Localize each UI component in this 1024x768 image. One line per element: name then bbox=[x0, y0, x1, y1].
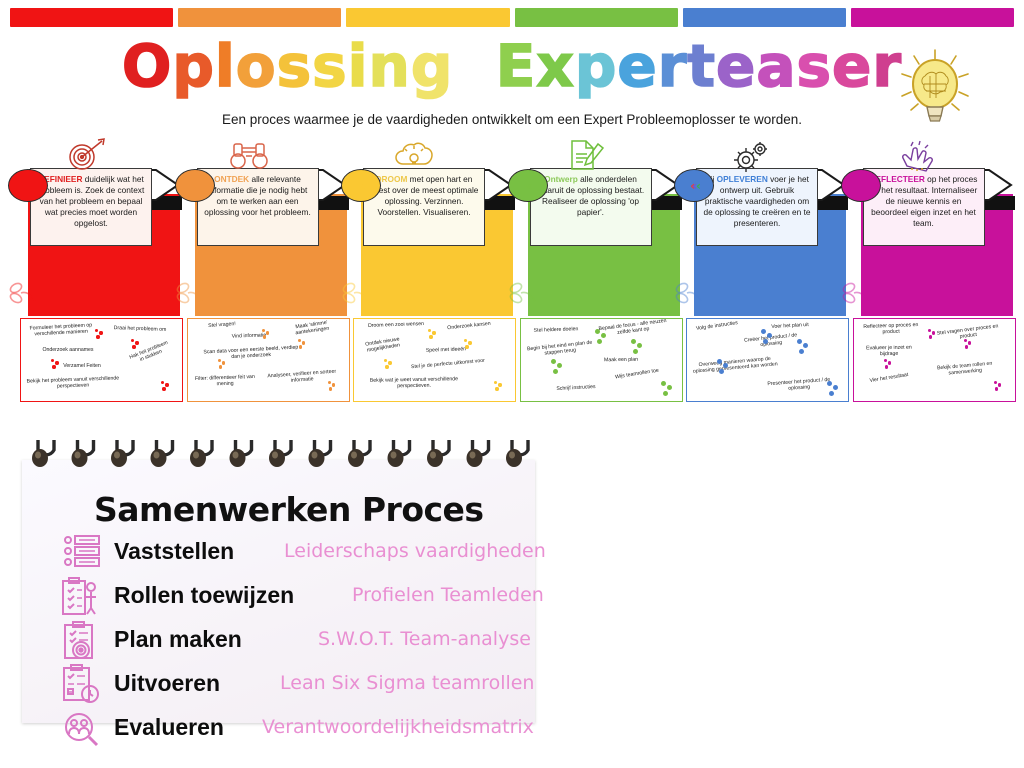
title-letter: o bbox=[236, 32, 277, 100]
process-panel-opleveren[interactable]: Bij OPLEVEREN voer je het ontwerp uit. G… bbox=[680, 138, 840, 406]
subbox-item: Begin bij het eind en plan de stappen te… bbox=[520, 339, 599, 359]
panel-description-ontdekken: ONTDEK alle relevante informatie die je … bbox=[197, 168, 319, 246]
panel-subbox-definieren: Formuleer het probleem op verschillende … bbox=[20, 318, 183, 402]
title-letter: p bbox=[575, 32, 618, 100]
subbox-item: Stel heldere doelen bbox=[522, 326, 588, 335]
panel-subbox-ontdekken: Stel vragen!Vind informatieMaak 'slimme'… bbox=[187, 318, 350, 402]
subbox-item: Stel vragen over proces en product bbox=[935, 323, 1000, 343]
panel-badge-opleveren[interactable]: ‹‹‹‹ bbox=[674, 169, 714, 202]
panel-badge-dromen[interactable]: ‹‹ bbox=[341, 169, 381, 202]
notepad-row-label: Evalueren bbox=[114, 714, 224, 741]
subbox-item: Draai het probleem om bbox=[109, 325, 171, 333]
badge-chevrons: ‹‹‹‹ bbox=[690, 180, 698, 192]
subbox-item: Vind informatie bbox=[217, 332, 279, 340]
string-decoration bbox=[341, 276, 369, 316]
title-letter bbox=[453, 32, 495, 100]
color-strip-segment-5 bbox=[683, 8, 846, 27]
title-letter: s bbox=[797, 32, 833, 100]
title-letter: e bbox=[832, 32, 872, 100]
color-strip-segment-6 bbox=[851, 8, 1014, 27]
notepad-row-value: Profielen Teamleden bbox=[352, 584, 544, 606]
notepad-row-label: Vaststellen bbox=[114, 538, 234, 565]
panel-subbox-opleveren: Volg de instructiesVoer het plan uitCreë… bbox=[686, 318, 849, 402]
process-panel-ontwerpen[interactable]: Ontwerp alle onderdelen waaruit de oplos… bbox=[514, 138, 674, 406]
string-decoration bbox=[508, 276, 536, 316]
subbox-item: Filter: differentieer feit van mening bbox=[189, 374, 259, 389]
people-search-icon bbox=[60, 708, 102, 750]
title-letter: r bbox=[658, 32, 688, 100]
subbox-item: Maak een plan bbox=[590, 356, 650, 363]
subbox-item: Schrijf instructies bbox=[540, 383, 610, 393]
subbox-item: Vier het resultaat bbox=[859, 371, 917, 386]
color-strip-segment-3 bbox=[346, 8, 509, 27]
badge-chevrons: ‹ bbox=[194, 180, 196, 192]
notepad-row-value: Verantwoordelijkheidsmatrix bbox=[262, 716, 534, 738]
process-panel-ontdekken[interactable]: ONTDEK alle relevante informatie die je … bbox=[181, 138, 341, 406]
page-subtitle: Een proces waarmee je de vaardigheden on… bbox=[0, 112, 1024, 127]
color-strip bbox=[10, 8, 1014, 27]
title-letter: p bbox=[172, 32, 215, 100]
subbox-item: Voer het plan uit bbox=[759, 321, 821, 330]
title-letter: e bbox=[617, 32, 657, 100]
process-panel-dromen[interactable]: DROOM met open hart en geest over de mee… bbox=[347, 138, 507, 406]
subbox-item: Evalueer je inzet en bijdrage bbox=[857, 344, 919, 357]
string-decoration bbox=[674, 276, 702, 316]
title-letter: g bbox=[411, 32, 454, 100]
subbox-item: Maak 'slimme' aantekeningen bbox=[283, 318, 340, 338]
badge-chevrons: ‹‹ bbox=[526, 180, 530, 192]
notepad-row-1[interactable]: VaststellenLeiderschaps vaardigheden bbox=[22, 530, 535, 576]
panel-subbox-ontwerpen: Stel heldere doelenBepaal de focus - all… bbox=[520, 318, 683, 402]
clapping-hands-icon bbox=[887, 138, 951, 172]
title-letter: s bbox=[312, 32, 348, 100]
subbox-item: Wijs teamrollen toe bbox=[608, 367, 664, 382]
notepad-row-label: Rollen toewijzen bbox=[114, 582, 294, 609]
title-letter: t bbox=[687, 32, 716, 100]
process-panel-reflecteren[interactable]: REFLECTEER op het proces en het resultaa… bbox=[847, 138, 1007, 406]
notepad-row-2[interactable]: Rollen toewijzenProfielen Teamleden bbox=[22, 574, 535, 620]
process-panel-definieren[interactable]: DEFINIEER duidelijk wat het probleem is.… bbox=[14, 138, 174, 406]
subbox-item: Formuleer het probleem op verschillende … bbox=[23, 322, 100, 338]
title-letter: e bbox=[716, 32, 756, 100]
checklist-icon bbox=[60, 532, 102, 574]
subbox-item: Stel je de perfecte uitkomst voor bbox=[396, 356, 500, 371]
title-letter: n bbox=[369, 32, 411, 100]
color-strip-segment-2 bbox=[178, 8, 341, 27]
title-letter: O bbox=[122, 32, 172, 100]
color-strip-segment-4 bbox=[515, 8, 678, 27]
title-letter: s bbox=[277, 32, 313, 100]
process-panels: DEFINIEER duidelijk wat het probleem is.… bbox=[14, 138, 1010, 406]
document-pen-icon bbox=[554, 138, 618, 172]
notepad-row-3[interactable]: Plan makenS.W.O.T. Team-analyse bbox=[22, 618, 535, 664]
subbox-item: Onderzoek aannames bbox=[29, 347, 107, 353]
title-letter: x bbox=[536, 32, 574, 100]
color-strip-segment-1 bbox=[10, 8, 173, 27]
lightbulb-brain-icon bbox=[880, 44, 990, 130]
notepad-row-value: S.W.O.T. Team-analyse bbox=[318, 628, 531, 650]
cloud-idea-icon bbox=[387, 138, 451, 172]
title-letter: E bbox=[496, 32, 537, 100]
subbox-item: Ontdek nieuwe mogelijkheden bbox=[353, 335, 412, 356]
subbox-item: Presenteer het product / de oplossing bbox=[763, 377, 836, 394]
title-letter: l bbox=[215, 32, 236, 100]
notepad-row-value: Lean Six Sigma teamrollen bbox=[280, 672, 534, 694]
panel-subbox-reflecteren: Reflecteer op proces en productStel vrag… bbox=[853, 318, 1016, 402]
panel-subbox-dromen: Droom een zooi wensenOnderzoek kansenOnt… bbox=[353, 318, 516, 402]
title-letter: a bbox=[756, 32, 796, 100]
subbox-item: Droom een zooi wensen bbox=[358, 321, 434, 330]
clipboard-target-icon bbox=[60, 620, 102, 662]
notepad-row-4[interactable]: UitvoerenLean Six Sigma teamrollen bbox=[22, 662, 535, 708]
panel-badge-ontwerpen[interactable]: ‹‹ bbox=[508, 169, 548, 202]
panel-badge-ontdekken[interactable]: ‹ bbox=[175, 169, 215, 202]
title-block: Oplossing Experteaser bbox=[0, 36, 1024, 96]
subbox-item: Onderzoek kansen bbox=[436, 320, 502, 333]
badge-chevrons: ‹‹ bbox=[359, 180, 363, 192]
string-decoration bbox=[8, 276, 36, 316]
panel-description-opleveren: Bij OPLEVEREN voer je het ontwerp uit. G… bbox=[696, 168, 818, 246]
notepad-row-value: Leiderschaps vaardigheden bbox=[284, 540, 546, 562]
panel-description-definieren: DEFINIEER duidelijk wat het probleem is.… bbox=[30, 168, 152, 246]
subbox-item: Overweeg manieren waarop de oplossing ge… bbox=[689, 355, 782, 375]
notepad-title: Samenwerken Proces bbox=[94, 490, 484, 529]
target-dart-icon bbox=[54, 138, 118, 172]
subbox-item: Hak het probleem in stukken bbox=[126, 339, 173, 368]
subbox-item: Bekijk het probleem vanuit verschillende… bbox=[25, 375, 121, 391]
poster-root: Oplossing Experteaser Een proces waarmee… bbox=[0, 0, 1024, 768]
panel-description-ontwerpen: Ontwerp alle onderdelen waaruit de oplos… bbox=[530, 168, 652, 246]
title-letter: i bbox=[348, 32, 369, 100]
subbox-item: Bekijk de team rollen en samenwerking bbox=[929, 360, 1000, 378]
page-title: Oplossing Experteaser bbox=[0, 36, 1024, 96]
subbox-item: Bekijk wat je weet vanuit verschillende … bbox=[364, 376, 464, 390]
subbox-item: Scan data voor een eerste beeld, verdiep… bbox=[201, 344, 300, 362]
gears-icon bbox=[720, 138, 784, 172]
binoculars-icon bbox=[221, 138, 285, 172]
panel-description-reflecteren: REFLECTEER op het proces en het resultaa… bbox=[863, 168, 985, 246]
subbox-item: Volg de instructies bbox=[693, 320, 741, 333]
panel-badge-definieren[interactable] bbox=[8, 169, 48, 202]
clipboard-person-icon bbox=[60, 576, 102, 618]
string-decoration bbox=[175, 276, 203, 316]
notepad-row-label: Uitvoeren bbox=[114, 670, 220, 697]
panel-description-dromen: DROOM met open hart en geest over de mee… bbox=[363, 168, 485, 246]
panel-badge-reflecteren[interactable] bbox=[841, 169, 881, 202]
clipboard-clock-icon bbox=[60, 664, 102, 706]
subbox-item: Reflecteer op proces en product bbox=[857, 322, 923, 337]
notepad-row-5[interactable]: EvaluerenVerantwoordelijkheidsmatrix bbox=[22, 706, 535, 752]
notepad: Samenwerken Proces VaststellenLeiderscha… bbox=[22, 438, 535, 723]
notepad-row-label: Plan maken bbox=[114, 626, 242, 653]
subbox-item: Stel vragen! bbox=[191, 320, 251, 330]
notepad-spiral-binding bbox=[22, 438, 535, 472]
string-decoration bbox=[841, 276, 869, 316]
